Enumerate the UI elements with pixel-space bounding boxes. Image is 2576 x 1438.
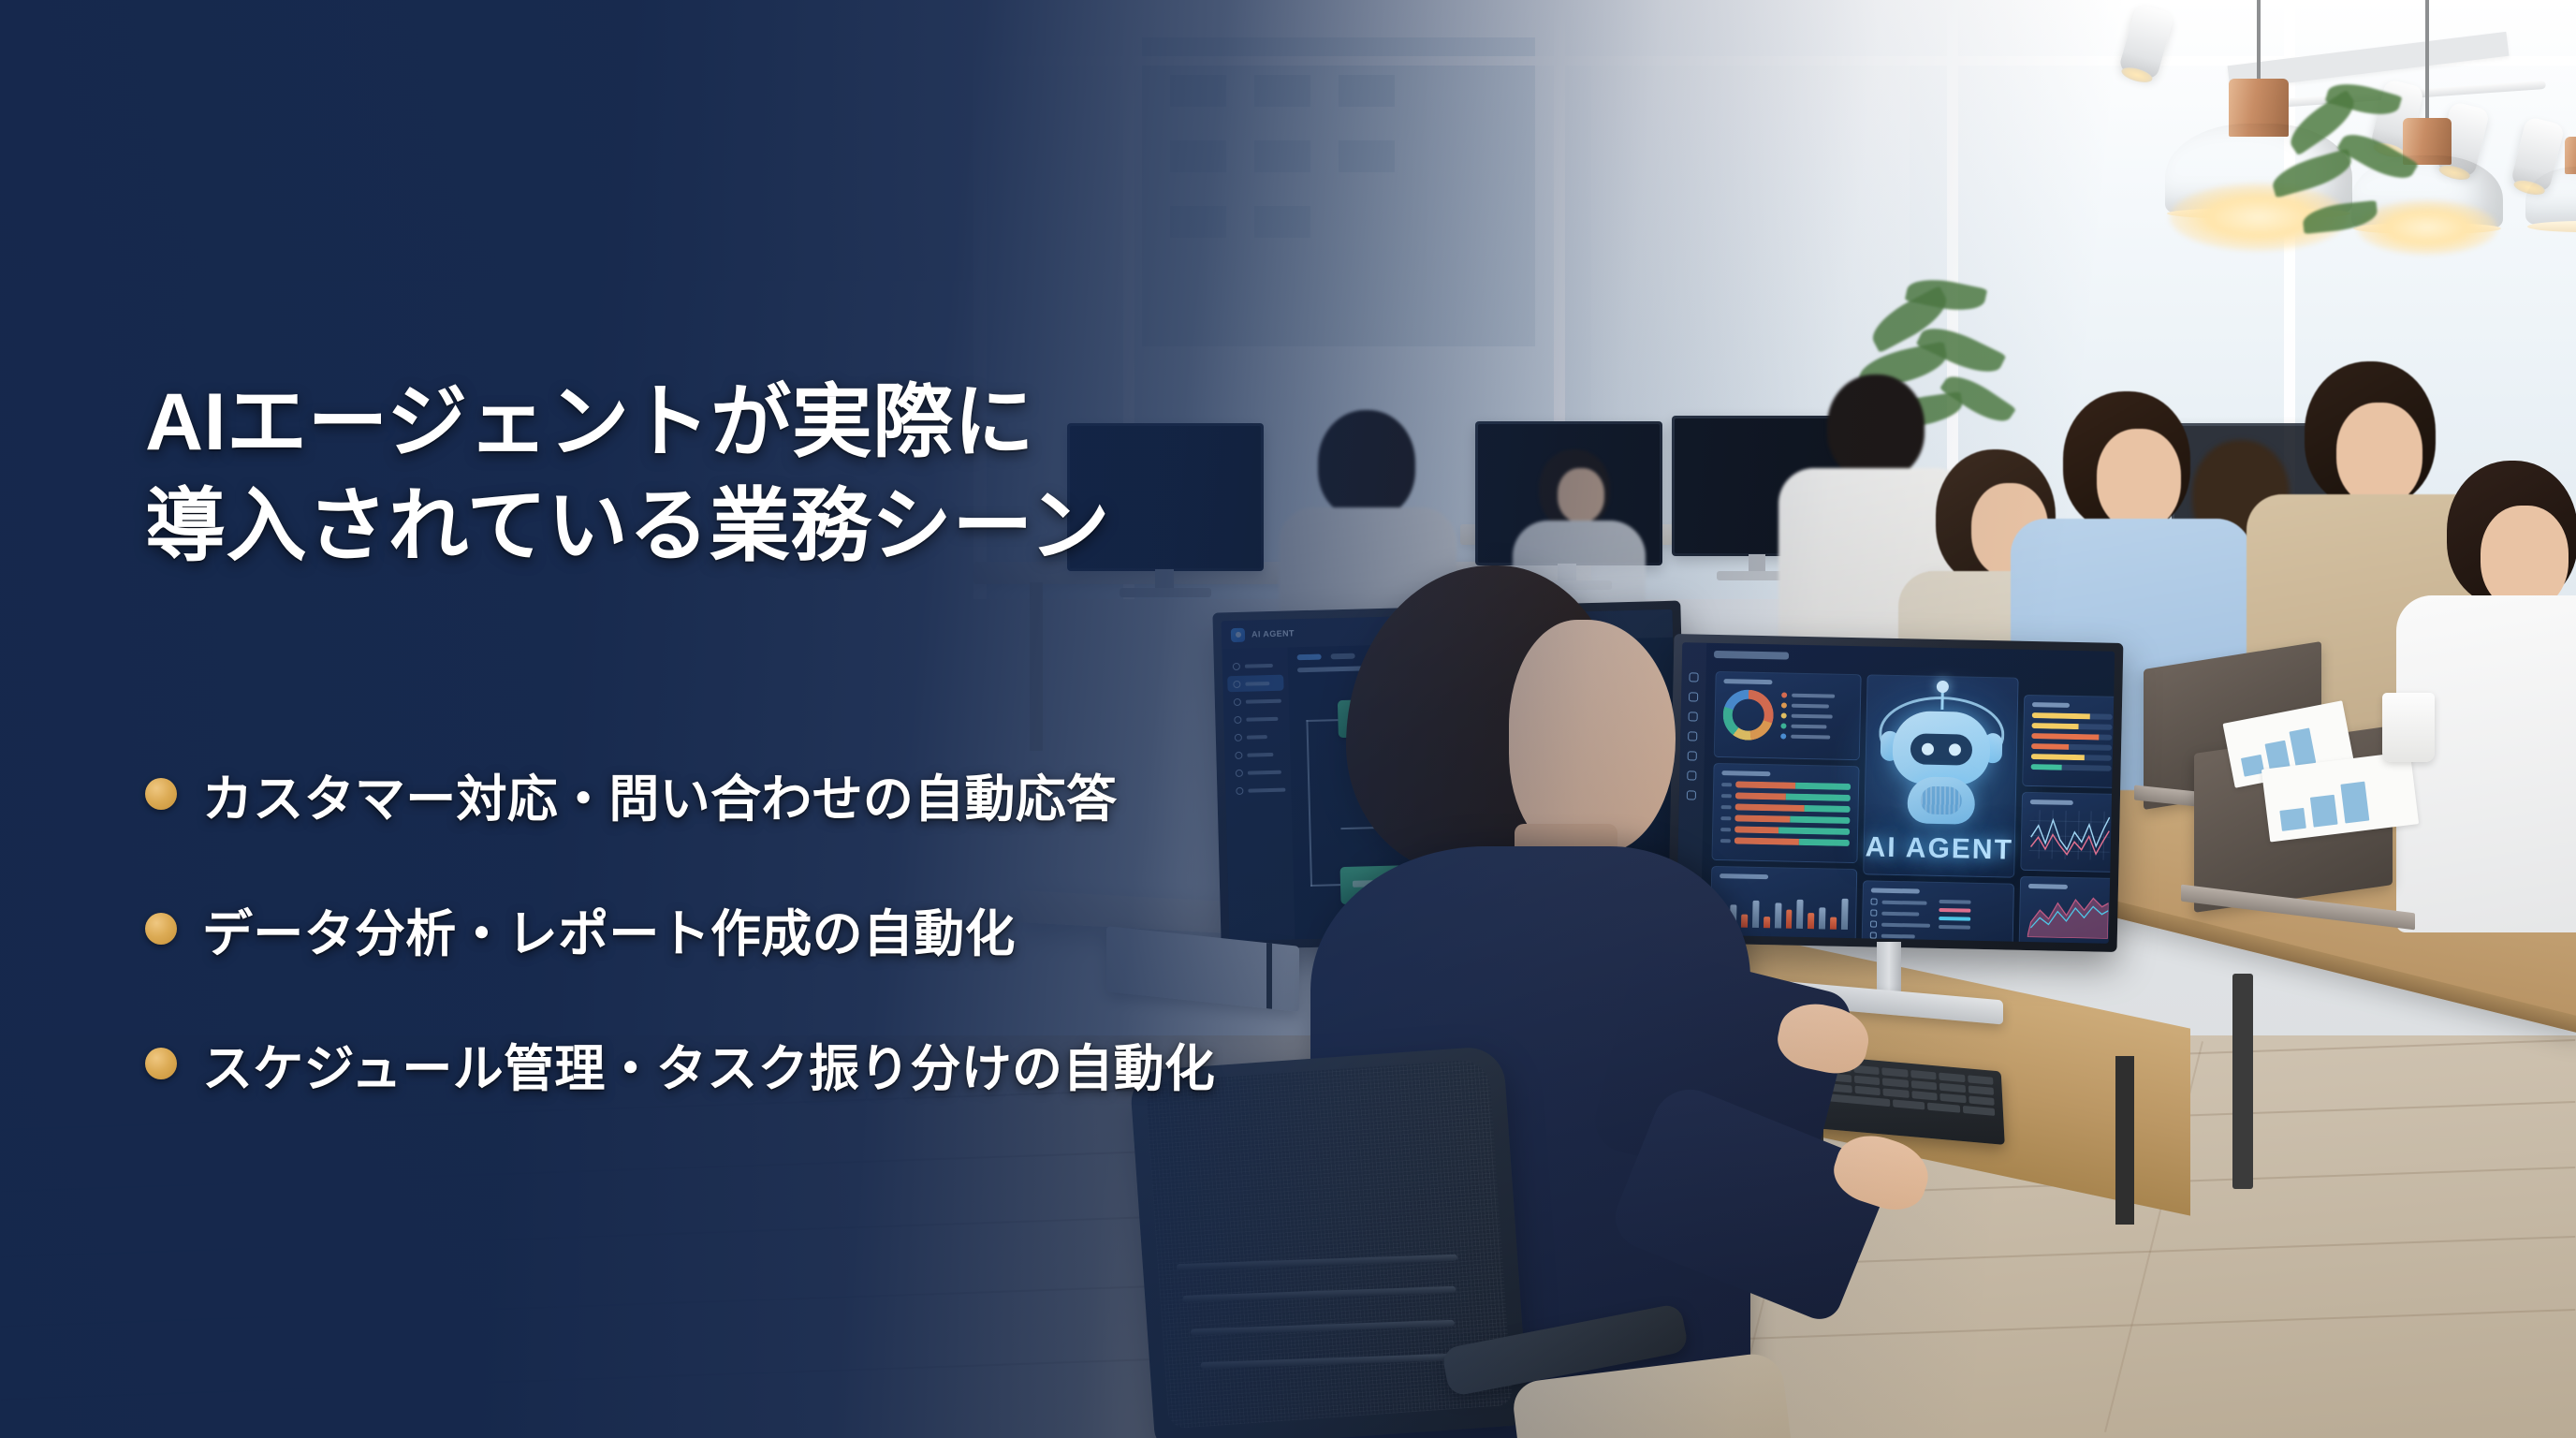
bullet-label: カスタマー対応・問い合わせの自動応答 xyxy=(202,757,1117,831)
bullet-item-data-analysis: データ分析・レポート作成の自動化 xyxy=(145,884,1215,974)
bullet-dot-icon xyxy=(145,778,177,810)
text-content-layer: AIエージェントが実際に 導入されている業務シーン カスタマー対応・問い合わせの… xyxy=(0,0,2576,1438)
bullet-item-scheduling: スケジュール管理・タスク振り分けの自動化 xyxy=(145,1019,1215,1108)
bullet-dot-icon xyxy=(145,1048,177,1079)
feature-bullet-list: カスタマー対応・問い合わせの自動応答 データ分析・レポート作成の自動化 スケジュ… xyxy=(145,749,1215,1108)
page-title: AIエージェントが実際に 導入されている業務シーン xyxy=(145,371,1110,580)
bullet-dot-icon xyxy=(145,913,177,945)
bullet-item-customer-support: カスタマー対応・問い合わせの自動応答 xyxy=(145,749,1215,839)
bullet-label: スケジュール管理・タスク振り分けの自動化 xyxy=(202,1027,1215,1101)
bullet-label: データ分析・レポート作成の自動化 xyxy=(202,892,1016,966)
hero-banner: AI AGENT xyxy=(0,0,2576,1438)
